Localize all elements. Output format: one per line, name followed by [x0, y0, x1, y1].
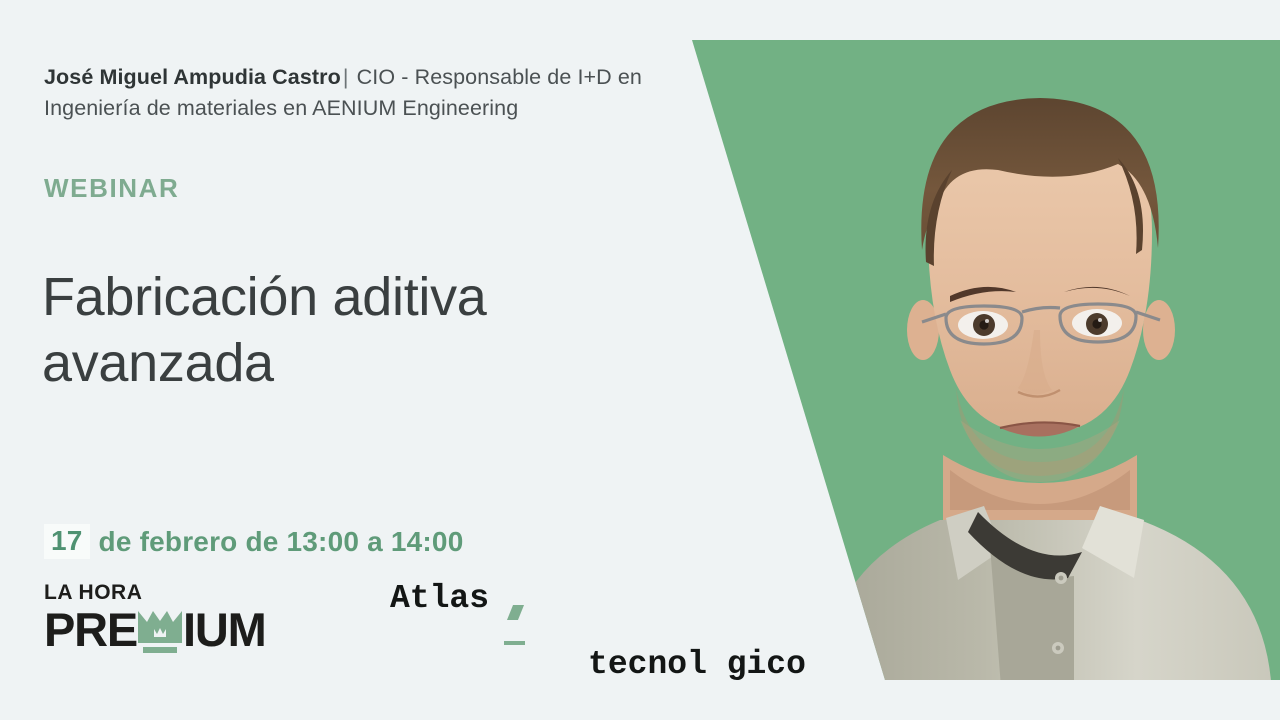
- left-content-column: José Miguel Ampudia Castro| CIO - Respon…: [44, 0, 664, 720]
- crown-icon: [138, 607, 182, 653]
- event-datetime: 17 de febrero de 13:00 a 14:00: [44, 524, 463, 559]
- la-hora-premium-bottom-text: PRE IUM: [44, 606, 294, 653]
- premium-text-before: PRE: [44, 606, 137, 653]
- premium-text-after: IUM: [183, 606, 266, 653]
- webinar-promo-slide: José Miguel Ampudia Castro| CIO - Respon…: [0, 0, 1280, 720]
- speaker-credit: José Miguel Ampudia Castro| CIO - Respon…: [44, 62, 684, 124]
- underline-accent-icon: [504, 641, 525, 645]
- portrait-panel: [660, 0, 1280, 720]
- speaker-name: José Miguel Ampudia Castro: [44, 65, 341, 89]
- speaker-separator: |: [341, 65, 351, 89]
- la-hora-premium-top-text: LA HORA: [44, 582, 294, 603]
- event-day-badge: 17: [44, 524, 90, 559]
- page-title: Fabricación aditiva avanzada: [42, 264, 602, 396]
- eyebrow-label: WEBINAR: [44, 173, 179, 204]
- event-date-text: de febrero de 13:00 a 14:00: [99, 526, 464, 558]
- la-hora-premium-logo: LA HORA PRE IUM: [44, 582, 294, 653]
